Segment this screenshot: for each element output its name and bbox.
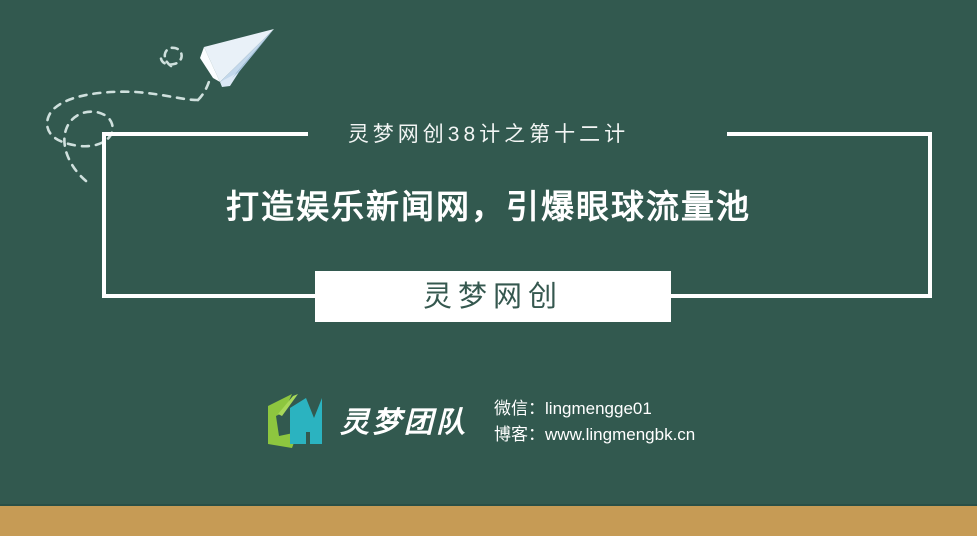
- lm-monogram-logo-icon: [262, 392, 334, 452]
- slide-headline: 打造娱乐新闻网，引爆眼球流量池: [0, 185, 977, 229]
- contact-blog: 博客：www.lingmengbk.cn: [494, 422, 695, 448]
- logo-m-left-stem: [290, 398, 306, 444]
- paper-plane-icon: [200, 29, 274, 87]
- contact-wechat-value: lingmengge01: [545, 399, 652, 418]
- dashed-loop: [161, 48, 182, 66]
- brand-plate-text: 灵梦网创: [423, 281, 563, 313]
- slide-footer: 灵梦团队 微信：lingmengge01 博客：www.lingmengbk.c…: [262, 392, 695, 452]
- team-name: 灵梦团队: [340, 403, 468, 441]
- bottom-gold-strip: [0, 506, 977, 536]
- contact-blog-label: 博客：: [494, 425, 545, 444]
- contact-block: 微信：lingmengge01 博客：www.lingmengbk.cn: [494, 396, 695, 448]
- contact-wechat: 微信：lingmengge01: [494, 396, 695, 422]
- slide-subtitle: 灵梦网创38计之第十二计: [0, 121, 977, 149]
- presentation-slide: 灵梦网创38计之第十二计 打造娱乐新闻网，引爆眼球流量池 灵梦网创 灵梦团队 微…: [0, 0, 977, 536]
- contact-wechat-label: 微信：: [494, 399, 545, 418]
- contact-blog-value: www.lingmengbk.cn: [545, 425, 695, 444]
- dashed-trail-tip: [198, 78, 210, 100]
- logo-m-body: [306, 398, 322, 444]
- brand-plate: 灵梦网创: [315, 271, 671, 322]
